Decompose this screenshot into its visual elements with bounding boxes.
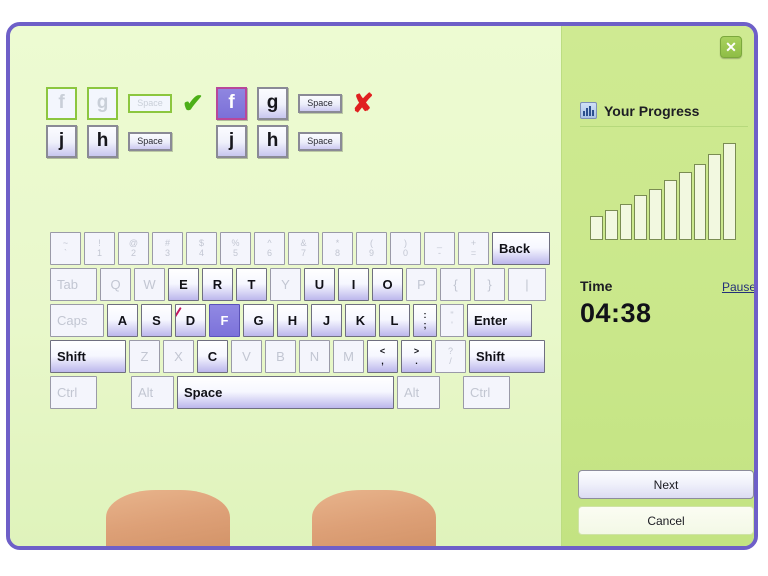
key-dual-label: @2 (129, 239, 138, 257)
key-dual-label: !1 (97, 239, 102, 257)
key-h[interactable]: H (277, 304, 308, 337)
key-[interactable]: | (508, 268, 546, 301)
chart-bar (723, 143, 736, 240)
key-5[interactable]: %5 (220, 232, 251, 265)
chart-bar (664, 180, 677, 240)
key-a[interactable]: A (107, 304, 138, 337)
exercise-key: g (87, 87, 118, 120)
exercise-key: f (46, 87, 77, 120)
exercise-line-2: j h Space (216, 122, 374, 160)
key-[interactable]: _- (424, 232, 455, 265)
keyboard-spacer (100, 376, 131, 409)
exercise-space-key: Space (298, 132, 342, 151)
keyboard-row-number-row: ~`!1@2#3$4%5^6&7*8(9)0_-+=Back (50, 232, 534, 265)
key-space[interactable]: Space (177, 376, 394, 409)
chart-bar (649, 189, 662, 240)
cancel-button[interactable]: Cancel (578, 506, 754, 535)
close-icon[interactable]: ✕ (720, 36, 742, 58)
key-dual-label: >. (414, 347, 419, 365)
key-shift[interactable]: Shift (50, 340, 126, 373)
key-caps[interactable]: Caps (50, 304, 104, 337)
key-z[interactable]: Z (129, 340, 160, 373)
exercise-line-1: f g Space ✔ (46, 84, 204, 122)
key-dual-label: (9 (369, 239, 374, 257)
lesson-window: f g Space ✔ j h Space f g Space ✘ (6, 22, 758, 550)
progress-title: Your Progress (604, 103, 699, 119)
key-k[interactable]: K (345, 304, 376, 337)
key-dual-label: "' (450, 311, 453, 329)
lesson-panel: f g Space ✔ j h Space f g Space ✘ (10, 26, 561, 546)
progress-chart (590, 136, 736, 240)
key-o[interactable]: O (372, 268, 403, 301)
key-0[interactable]: )0 (390, 232, 421, 265)
progress-sidebar: ✕ Your Progress Time Pause 04:38 Next Ca… (561, 26, 754, 546)
key-[interactable]: ~` (50, 232, 81, 265)
key-w[interactable]: W (134, 268, 165, 301)
exercise-key: j (46, 125, 77, 158)
keyboard-row-top-row: TabQWERTYUIOP{}| (50, 268, 534, 301)
key-dual-label: )0 (403, 239, 408, 257)
key-f[interactable]: F (209, 304, 240, 337)
chart-bar (679, 172, 692, 240)
key-4[interactable]: $4 (186, 232, 217, 265)
key-dual-label: $4 (199, 239, 204, 257)
key-[interactable]: "' (440, 304, 464, 337)
key-ctrl[interactable]: Ctrl (463, 376, 510, 409)
exercise-key: g (257, 87, 288, 120)
exercise-key-active: f (216, 87, 247, 120)
key-1[interactable]: !1 (84, 232, 115, 265)
key-dual-label: :; (424, 311, 427, 329)
key-g[interactable]: G (243, 304, 274, 337)
key-dual-label: ~` (63, 239, 68, 257)
exercise-key: j (216, 125, 247, 158)
keyboard-row-bottom-row: CtrlAltSpaceAltCtrl (50, 376, 534, 409)
key-dual-label: &7 (300, 239, 306, 257)
key-u[interactable]: U (304, 268, 335, 301)
palm (106, 490, 230, 550)
chart-bar (634, 195, 647, 240)
key-b[interactable]: B (265, 340, 296, 373)
key-3[interactable]: #3 (152, 232, 183, 265)
exercise-line-1: f g Space ✘ (216, 84, 374, 122)
key-y[interactable]: Y (270, 268, 301, 301)
key-back[interactable]: Back (492, 232, 550, 265)
key-8[interactable]: *8 (322, 232, 353, 265)
time-row: Time Pause (580, 278, 756, 294)
key-shift[interactable]: Shift (469, 340, 545, 373)
key-[interactable]: ?/ (435, 340, 466, 373)
key-9[interactable]: (9 (356, 232, 387, 265)
pause-link[interactable]: Pause (722, 280, 756, 294)
key-[interactable]: <, (367, 340, 398, 373)
key-x[interactable]: X (163, 340, 194, 373)
key-2[interactable]: @2 (118, 232, 149, 265)
exercise-space-key: Space (298, 94, 342, 113)
key-dual-label: <, (380, 347, 385, 365)
key-alt[interactable]: Alt (131, 376, 174, 409)
exercise-group-current: f g Space ✘ j h Space (216, 84, 374, 160)
key-dual-label: += (471, 239, 476, 257)
exercise-key: h (257, 125, 288, 158)
keyboard-row-home-row: CapsASDFGHJKL:;"'Enter (50, 304, 534, 337)
key-q[interactable]: Q (100, 268, 131, 301)
key-l[interactable]: L (379, 304, 410, 337)
chart-bar (590, 216, 603, 240)
bar-chart-icon (580, 102, 597, 119)
key-[interactable]: >. (401, 340, 432, 373)
key-ctrl[interactable]: Ctrl (50, 376, 97, 409)
key-t[interactable]: T (236, 268, 267, 301)
chart-bar (708, 154, 721, 240)
key-v[interactable]: V (231, 340, 262, 373)
correct-mark-icon: ✔ (182, 90, 204, 116)
key-6[interactable]: ^6 (254, 232, 285, 265)
error-mark-icon: ✘ (352, 90, 374, 116)
key-r[interactable]: R (202, 268, 233, 301)
keyboard-spacer (443, 376, 463, 409)
key-n[interactable]: N (299, 340, 330, 373)
key-dual-label: *8 (335, 239, 340, 257)
key-e[interactable]: E (168, 268, 199, 301)
key-[interactable]: :; (413, 304, 437, 337)
key-j[interactable]: J (311, 304, 342, 337)
exercise-group-completed: f g Space ✔ j h Space (46, 84, 204, 160)
key-[interactable]: } (474, 268, 505, 301)
chart-bar (694, 164, 707, 240)
chart-bars (590, 136, 736, 240)
key-i[interactable]: I (338, 268, 369, 301)
key-dual-label: %5 (231, 239, 239, 257)
hands-illustration (106, 412, 446, 550)
keyboard-row-shift-row: ShiftZXCVBNM<,>.?/Shift (50, 340, 534, 373)
virtual-keyboard[interactable]: ~`!1@2#3$4%5^6&7*8(9)0_-+=BackTabQWERTYU… (50, 232, 534, 412)
key-alt[interactable]: Alt (397, 376, 440, 409)
progress-header: Your Progress (580, 102, 748, 127)
palm (312, 490, 436, 550)
exercise-space-key: Space (128, 94, 172, 113)
key-enter[interactable]: Enter (467, 304, 532, 337)
key-7[interactable]: &7 (288, 232, 319, 265)
key-dual-label: #3 (165, 239, 170, 257)
key-[interactable]: += (458, 232, 489, 265)
key-dual-label: _- (437, 239, 442, 257)
key-[interactable]: { (440, 268, 471, 301)
time-value: 04:38 (580, 298, 652, 329)
key-dual-label: ^6 (267, 239, 272, 257)
key-c[interactable]: C (197, 340, 228, 373)
chart-bar (605, 210, 618, 240)
key-s[interactable]: S (141, 304, 172, 337)
key-dual-label: ?/ (448, 347, 453, 365)
exercise-line-2: j h Space (46, 122, 204, 160)
chart-bar (620, 204, 633, 240)
key-d[interactable]: D (175, 304, 206, 337)
next-button[interactable]: Next (578, 470, 754, 499)
time-label: Time (580, 278, 612, 294)
exercise-space-key: Space (128, 132, 172, 151)
exercise-key: h (87, 125, 118, 158)
key-tab[interactable]: Tab (50, 268, 97, 301)
key-p[interactable]: P (406, 268, 437, 301)
key-m[interactable]: M (333, 340, 364, 373)
